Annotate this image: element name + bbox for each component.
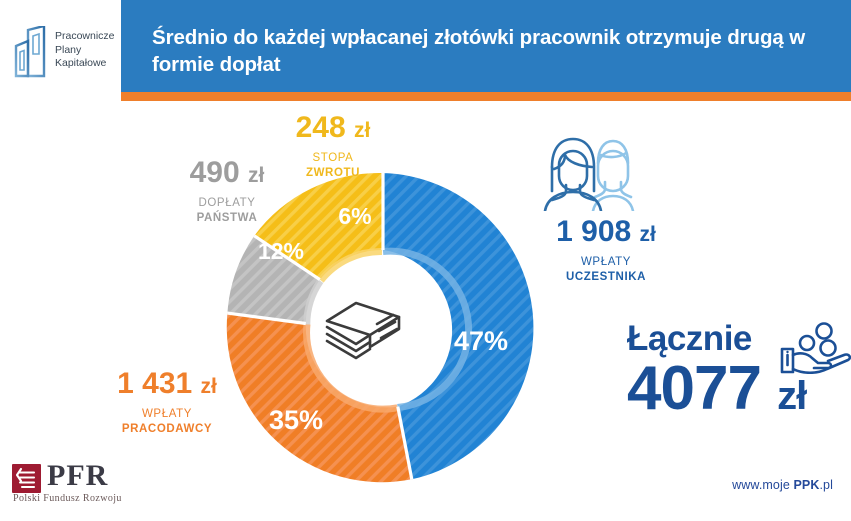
callout-sub-line2-blue: UCZESTNIKA bbox=[566, 271, 646, 283]
two-people-icon bbox=[535, 133, 641, 211]
callout-amount-orange: 1 431 zł bbox=[72, 368, 262, 403]
donut-label-6: 6% bbox=[338, 203, 371, 229]
donut-label-12: 12% bbox=[258, 238, 304, 264]
callout-amount-value-blue: 1 908 bbox=[556, 215, 631, 248]
callout-amount-value-yellow: 248 bbox=[296, 111, 346, 144]
total-block: Łącznie 4077 zł bbox=[627, 320, 851, 429]
callout-amount-yellow: 248 zł bbox=[258, 112, 408, 147]
infographic-root: Średnio do każdej wpłacanej złotówki pra… bbox=[0, 0, 851, 521]
ppk-logo-text: Pracownicze Plany Kapitałowe bbox=[55, 30, 115, 71]
callout-currency-gray: zł bbox=[248, 164, 264, 187]
callout-currency-orange: zł bbox=[201, 375, 217, 398]
website-prefix: www.moje bbox=[732, 478, 793, 492]
total-value: 4077 bbox=[627, 354, 761, 423]
hand-with-coins-icon bbox=[779, 322, 851, 374]
callout-wplaty-uczestnika: 1 908 zł WPŁATY UCZESTNIKA bbox=[512, 216, 700, 284]
header-title: Średnio do każdej wpłacanej złotówki pra… bbox=[152, 24, 812, 78]
ppk-building-icon bbox=[14, 26, 48, 78]
callout-sub-line1-orange: WPŁATY bbox=[72, 407, 262, 422]
total-currency: zł bbox=[777, 374, 806, 418]
donut-label-35: 35% bbox=[269, 405, 323, 435]
callout-doplaty-panstwa: 490 zł DOPŁATY PAŃSTWA bbox=[152, 157, 302, 225]
callout-sub-line2-orange: PRACODAWCY bbox=[122, 423, 212, 435]
callout-wplaty-pracodawcy: 1 431 zł WPŁATY PRACODAWCY bbox=[72, 368, 262, 436]
pfr-name: PFR bbox=[47, 459, 108, 493]
callout-amount-value-gray: 490 bbox=[190, 156, 240, 189]
ppk-logo-line-1: Pracownicze bbox=[55, 30, 115, 44]
pfr-mark-icon bbox=[12, 464, 41, 493]
callout-amount-blue: 1 908 zł bbox=[512, 216, 700, 251]
donut-label-47: 47% bbox=[454, 326, 508, 356]
callout-currency-yellow: zł bbox=[354, 119, 370, 142]
pfr-logo: PFR Polski Fundusz Rozwoju bbox=[12, 463, 192, 509]
callout-sub-line2-yellow: ZWROTU bbox=[306, 167, 360, 179]
website-suffix: .pl bbox=[819, 478, 833, 492]
callout-sub-gray: DOPŁATY PAŃSTWA bbox=[152, 196, 302, 225]
callout-sub-line1-gray: DOPŁATY bbox=[152, 196, 302, 211]
pfr-subtitle: Polski Fundusz Rozwoju bbox=[13, 493, 122, 504]
callout-currency-blue: zł bbox=[640, 223, 656, 246]
banknote-stack-icon bbox=[320, 293, 406, 361]
callout-sub-line2-gray: PAŃSTWA bbox=[197, 212, 258, 224]
callout-amount-value-orange: 1 431 bbox=[117, 367, 192, 400]
website-bold: PPK bbox=[793, 478, 819, 492]
header-accent-stripe bbox=[121, 92, 851, 101]
callout-sub-line1-blue: WPŁATY bbox=[512, 255, 700, 270]
callout-amount-gray: 490 zł bbox=[152, 157, 302, 192]
callout-sub-orange: WPŁATY PRACODAWCY bbox=[72, 407, 262, 436]
website-link[interactable]: www.moje PPK.pl bbox=[732, 478, 833, 492]
ppk-logo: Pracownicze Plany Kapitałowe bbox=[14, 26, 119, 82]
ppk-logo-line-3: Kapitałowe bbox=[55, 57, 115, 71]
ppk-logo-line-2: Plany bbox=[55, 44, 115, 58]
callout-sub-blue: WPŁATY UCZESTNIKA bbox=[512, 255, 700, 284]
